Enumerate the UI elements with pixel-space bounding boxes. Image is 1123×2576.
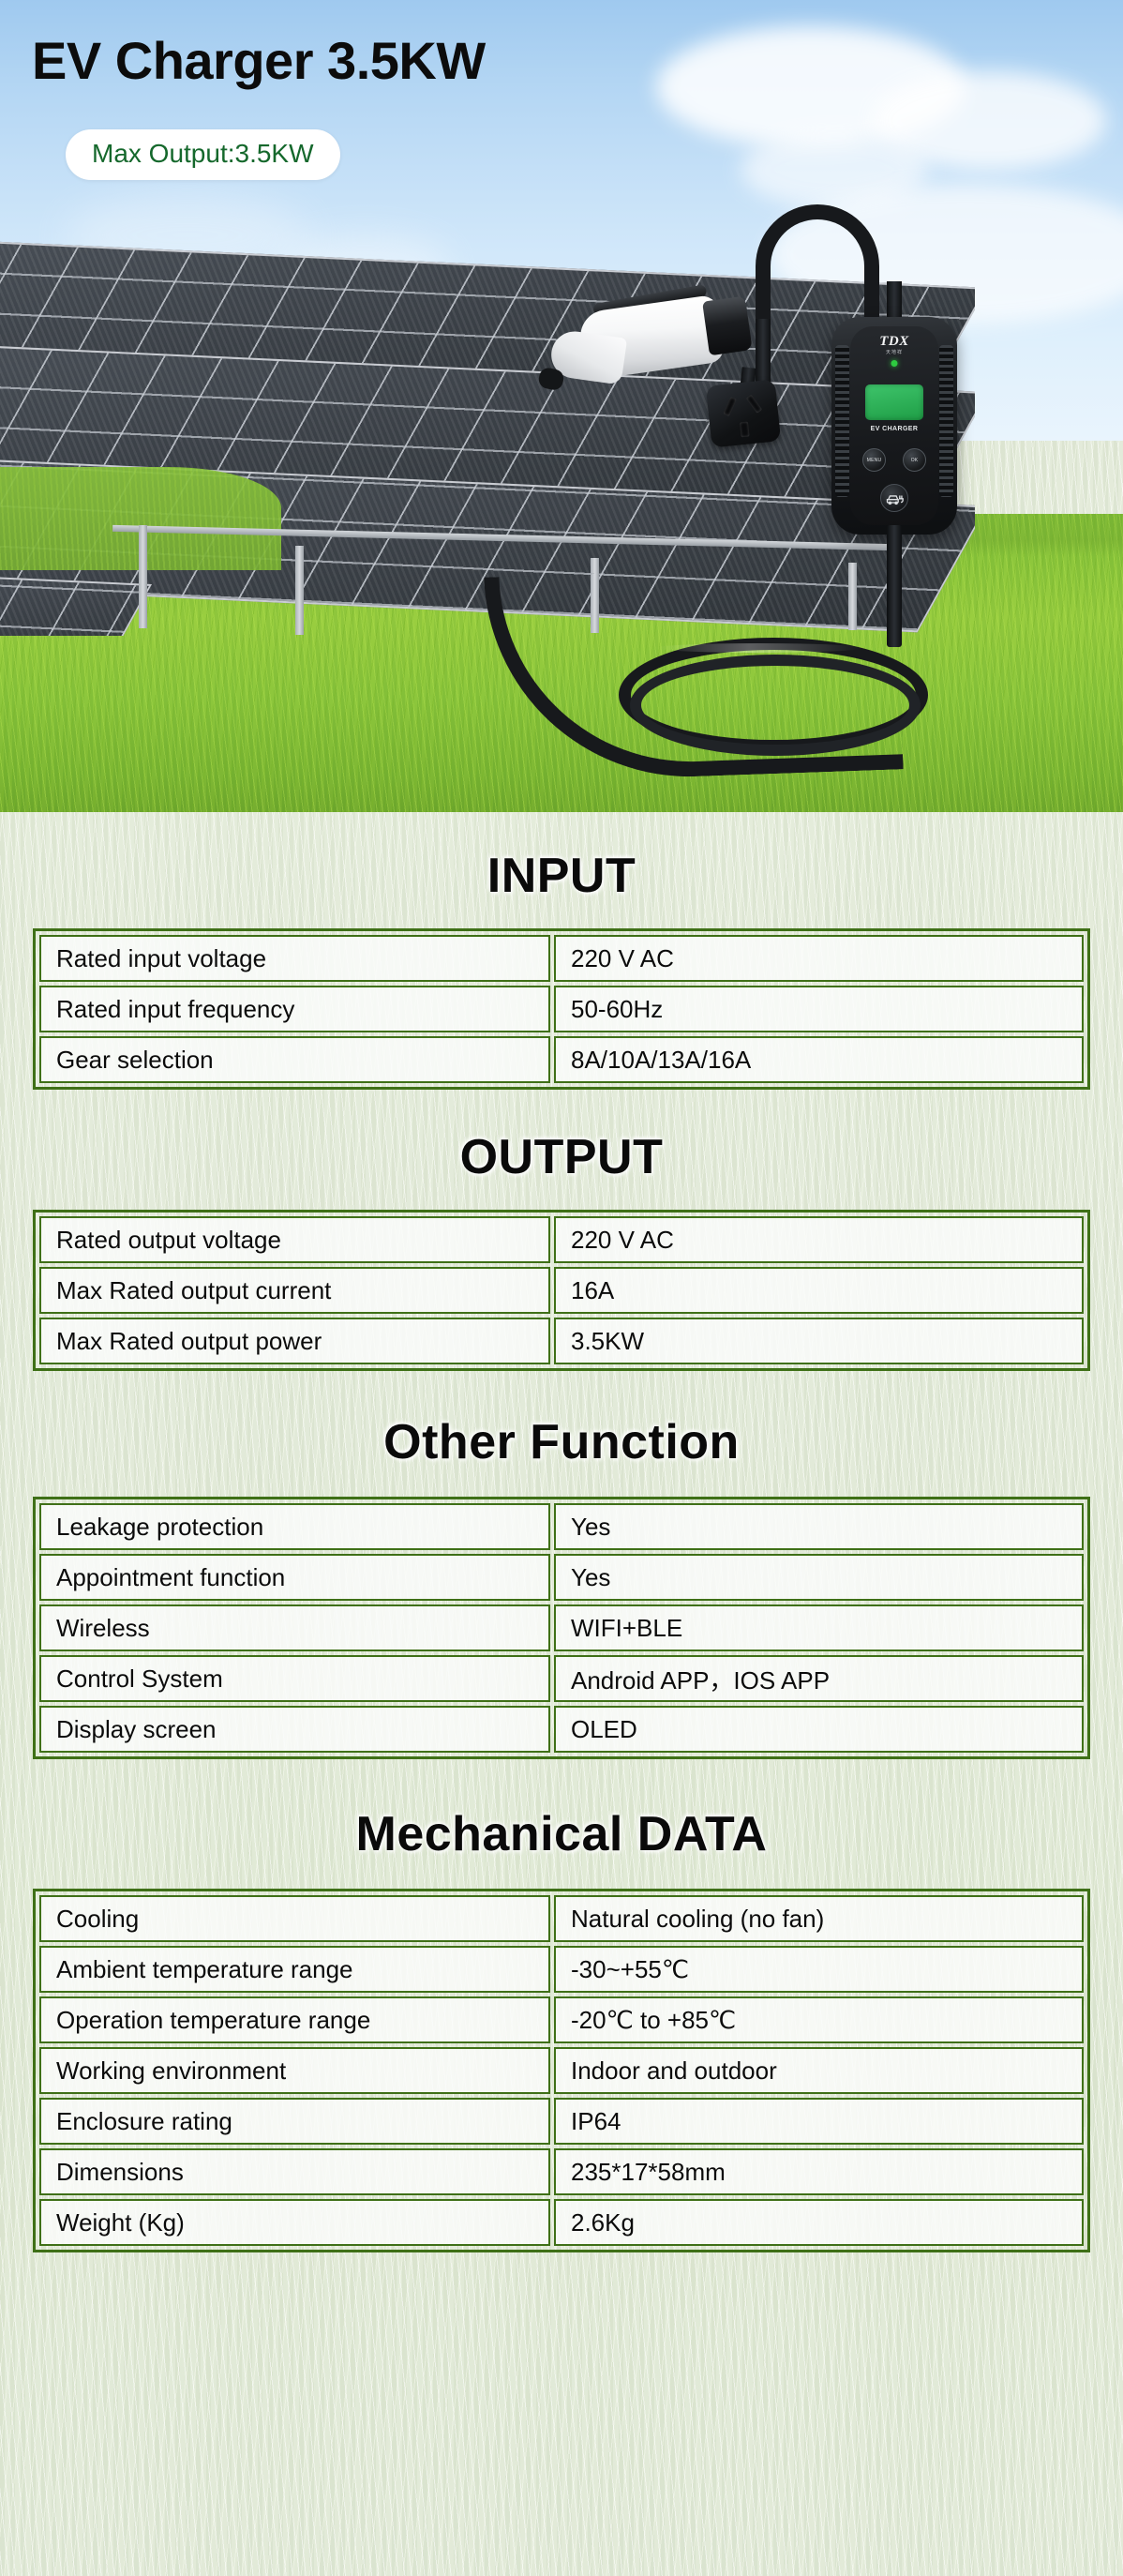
spec-key: Wireless <box>39 1604 550 1651</box>
table-row: Dimensions 235*17*58mm <box>39 2148 1084 2195</box>
heatsink-fins-right <box>939 345 953 497</box>
spec-key: Operation temperature range <box>39 1996 550 2043</box>
spec-value: WIFI+BLE <box>554 1604 1084 1651</box>
brand-logo-subtext: 天地祥 <box>831 349 957 355</box>
spec-value: Indoor and outdoor <box>554 2047 1084 2094</box>
spec-value: 50-60Hz <box>554 986 1084 1032</box>
section-input: INPUT Rated input voltage 220 V AC Rated… <box>0 812 1123 1090</box>
spec-value: 2.6Kg <box>554 2199 1084 2246</box>
hero-banner: TDX 天地祥 EV CHARGER MENU OK EV Charger 3.… <box>0 0 1123 812</box>
spec-value: Natural cooling (no fan) <box>554 1895 1084 1942</box>
section-title: OUTPUT <box>0 1129 1123 1185</box>
table-row: Max Rated output power 3.5KW <box>39 1318 1084 1364</box>
menu-button[interactable]: MENU <box>862 448 886 472</box>
plug-earth-pin <box>740 422 750 438</box>
screen-label: EV CHARGER <box>831 426 957 432</box>
section-output: OUTPUT Rated output voltage 220 V AC Max… <box>0 1090 1123 1371</box>
ok-button[interactable]: OK <box>903 448 926 472</box>
spec-value: Yes <box>554 1554 1084 1601</box>
spec-key: Working environment <box>39 2047 550 2094</box>
spec-key: Ambient temperature range <box>39 1946 550 1993</box>
table-row: Control System Android APP，IOS APP <box>39 1655 1084 1702</box>
spec-key: Leakage protection <box>39 1503 550 1550</box>
cable-highlight <box>656 643 862 653</box>
spec-value: 220 V AC <box>554 1216 1084 1263</box>
spec-table-output: Rated output voltage 220 V AC Max Rated … <box>33 1210 1090 1371</box>
section-title: INPUT <box>0 848 1123 904</box>
spec-value: 16A <box>554 1267 1084 1314</box>
spec-key: Enclosure rating <box>39 2098 550 2145</box>
table-row: Appointment function Yes <box>39 1554 1084 1601</box>
spec-value: -20℃ to +85℃ <box>554 1996 1084 2043</box>
spec-value: 3.5KW <box>554 1318 1084 1364</box>
table-row: Operation temperature range -20℃ to +85℃ <box>39 1996 1084 2043</box>
spec-table-other-function: Leakage protection Yes Appointment funct… <box>33 1497 1090 1759</box>
spec-value: 8A/10A/13A/16A <box>554 1036 1084 1083</box>
table-row: Working environment Indoor and outdoor <box>39 2047 1084 2094</box>
brand-logo-text: TDX <box>831 334 957 350</box>
spec-key: Appointment function <box>39 1554 550 1601</box>
spec-key: Rated output voltage <box>39 1216 550 1263</box>
spec-key: Weight (Kg) <box>39 2199 550 2246</box>
table-row: Display screen OLED <box>39 1706 1084 1753</box>
control-box: TDX 天地祥 EV CHARGER MENU OK <box>831 317 957 535</box>
section-other-function: Other Function Leakage protection Yes Ap… <box>0 1371 1123 1759</box>
ev-charging-icon <box>880 484 908 512</box>
page-title: EV Charger 3.5KW <box>32 30 486 91</box>
spec-key: Gear selection <box>39 1036 550 1083</box>
spec-sections: INPUT Rated input voltage 220 V AC Rated… <box>0 812 1123 2252</box>
spec-value: Android APP，IOS APP <box>554 1655 1084 1702</box>
spec-key: Display screen <box>39 1706 550 1753</box>
table-row: Cooling Natural cooling (no fan) <box>39 1895 1084 1942</box>
spec-table-input: Rated input voltage 220 V AC Rated input… <box>33 928 1090 1090</box>
mounting-leg <box>139 525 147 628</box>
spec-key: Cooling <box>39 1895 550 1942</box>
table-row: Gear selection 8A/10A/13A/16A <box>39 1036 1084 1083</box>
spec-table-mechanical-data: Cooling Natural cooling (no fan) Ambient… <box>33 1889 1090 2252</box>
section-mechanical-data: Mechanical DATA Cooling Natural cooling … <box>0 1759 1123 2252</box>
section-title: Other Function <box>0 1414 1123 1470</box>
max-output-badge: Max Output:3.5KW <box>66 129 340 180</box>
control-buttons: MENU OK <box>831 448 957 472</box>
table-row: Weight (Kg) 2.6Kg <box>39 2199 1084 2246</box>
spec-key: Max Rated output power <box>39 1318 550 1364</box>
spec-key: Rated input voltage <box>39 935 550 982</box>
spec-key: Max Rated output current <box>39 1267 550 1314</box>
spec-value: -30~+55℃ <box>554 1946 1084 1993</box>
table-row: Leakage protection Yes <box>39 1503 1084 1550</box>
section-title: Mechanical DATA <box>0 1806 1123 1862</box>
spec-key: Dimensions <box>39 2148 550 2195</box>
spec-key: Rated input frequency <box>39 986 550 1032</box>
spec-value: 235*17*58mm <box>554 2148 1084 2195</box>
table-row: Enclosure rating IP64 <box>39 2098 1084 2145</box>
spec-value: IP64 <box>554 2098 1084 2145</box>
table-row: Max Rated output current 16A <box>39 1267 1084 1314</box>
charging-cable-coil <box>630 655 921 756</box>
status-led-indicator <box>891 360 898 367</box>
spec-value: Yes <box>554 1503 1084 1550</box>
spec-value: OLED <box>554 1706 1084 1753</box>
table-row: Rated input voltage 220 V AC <box>39 935 1084 982</box>
spec-key: Control System <box>39 1655 550 1702</box>
spec-value: 220 V AC <box>554 935 1084 982</box>
table-row: Rated input frequency 50-60Hz <box>39 986 1084 1032</box>
mounting-leg <box>295 546 304 635</box>
heatsink-fins-left <box>835 345 849 497</box>
table-row: Rated output voltage 220 V AC <box>39 1216 1084 1263</box>
connector-nose <box>702 295 753 355</box>
oled-display-screen <box>865 384 923 420</box>
mains-plug <box>706 379 781 447</box>
table-row: Wireless WIFI+BLE <box>39 1604 1084 1651</box>
table-row: Ambient temperature range -30~+55℃ <box>39 1946 1084 1993</box>
